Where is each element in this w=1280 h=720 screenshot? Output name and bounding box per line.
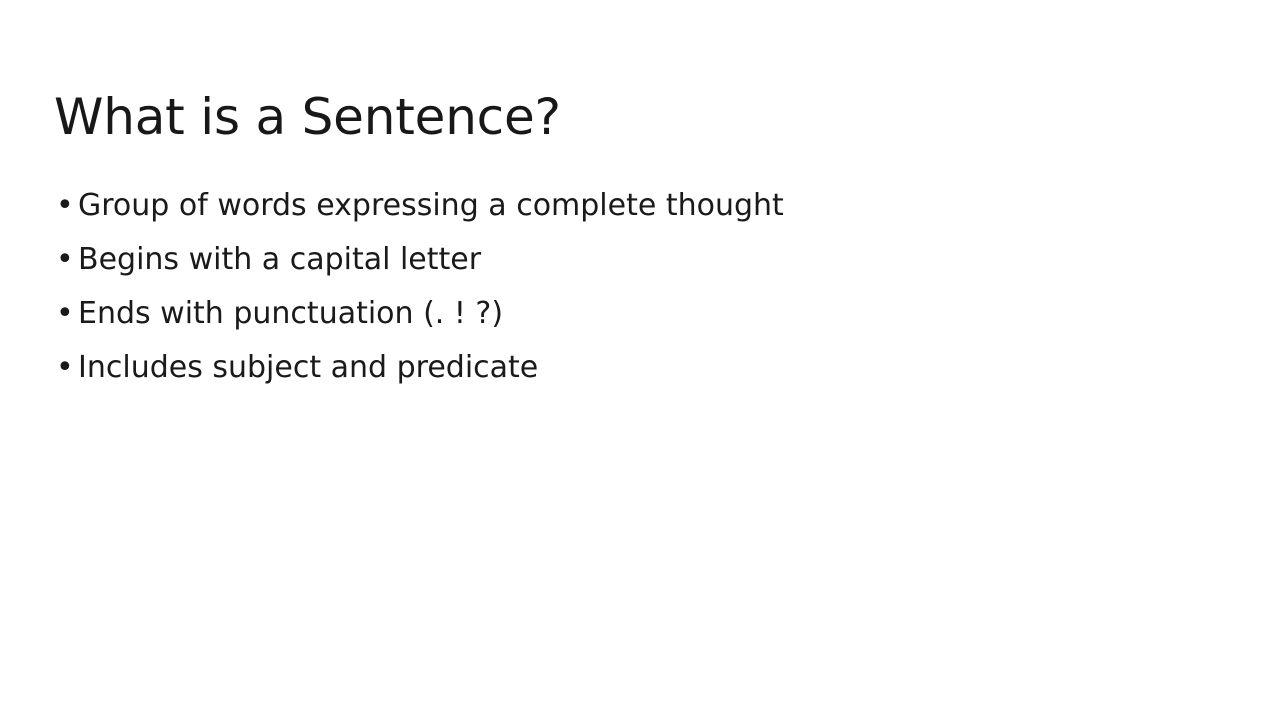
list-item: • Group of words expressing a complete t…: [56, 186, 1216, 240]
list-item-label: Begins with a capital letter: [78, 240, 481, 280]
bullet-point-icon: •: [56, 240, 78, 280]
bullet-point-icon: •: [56, 186, 78, 226]
slide-canvas: What is a Sentence? • Group of words exp…: [0, 0, 1280, 720]
list-item: • Ends with punctuation (. ! ?): [56, 294, 1216, 348]
list-item-label: Ends with punctuation (. ! ?): [78, 294, 503, 334]
bullet-list: • Group of words expressing a complete t…: [56, 186, 1216, 402]
bullet-point-icon: •: [56, 348, 78, 388]
list-item-label: Group of words expressing a complete tho…: [78, 186, 784, 226]
list-item: • Includes subject and predicate: [56, 348, 1216, 402]
bullet-point-icon: •: [56, 294, 78, 334]
list-item: • Begins with a capital letter: [56, 240, 1216, 294]
list-item-label: Includes subject and predicate: [78, 348, 538, 388]
page-title: What is a Sentence?: [54, 86, 1214, 148]
